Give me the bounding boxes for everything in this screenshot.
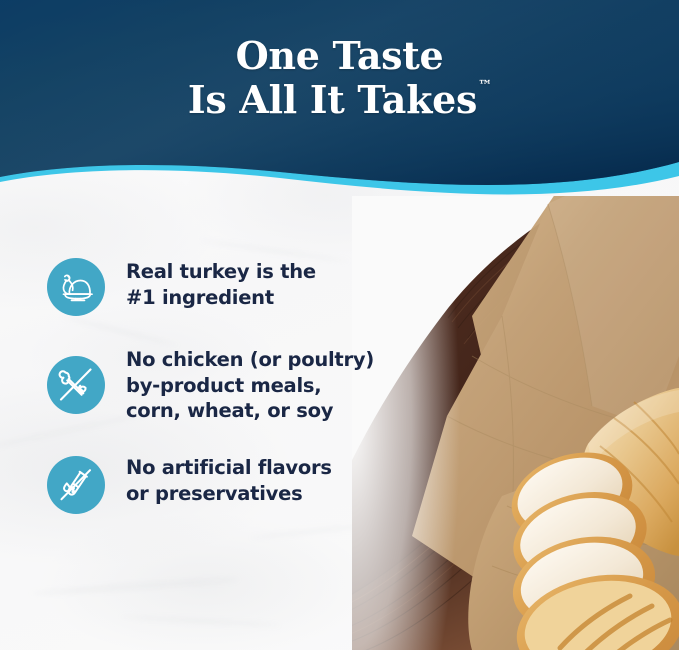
list-item-label: Real turkey is the #1 ingredient bbox=[126, 256, 316, 310]
sliced-roast-turkey-breast-on-parchment-photo bbox=[352, 196, 679, 650]
list-item: No artificial flavors or preservatives bbox=[47, 452, 387, 514]
title-line-1: One Taste bbox=[0, 34, 679, 78]
title-line-2: Is All It Takes bbox=[188, 77, 477, 122]
no-bone-icon bbox=[47, 356, 105, 414]
header-banner: One Taste Is All It Takes™ bbox=[0, 0, 679, 210]
feature-list: Real turkey is the #1 ingredient bbox=[47, 256, 387, 514]
page-title: One Taste Is All It Takes™ bbox=[0, 34, 679, 123]
list-item: No chicken (or poultry) by-product meals… bbox=[47, 344, 387, 424]
list-item-label: No chicken (or poultry) by-product meals… bbox=[126, 344, 374, 424]
title-line-2-wrapper: Is All It Takes™ bbox=[188, 78, 491, 122]
list-item-label: No artificial flavors or preservatives bbox=[126, 452, 332, 506]
promo-card: One Taste Is All It Takes™ bbox=[0, 0, 679, 650]
no-test-tube-icon bbox=[47, 456, 105, 514]
roast-turkey-platter-icon bbox=[47, 258, 105, 316]
marble-vein bbox=[30, 578, 240, 596]
list-item: Real turkey is the #1 ingredient bbox=[47, 256, 387, 316]
trademark-symbol: ™ bbox=[478, 78, 492, 94]
marble-vein bbox=[120, 616, 280, 626]
